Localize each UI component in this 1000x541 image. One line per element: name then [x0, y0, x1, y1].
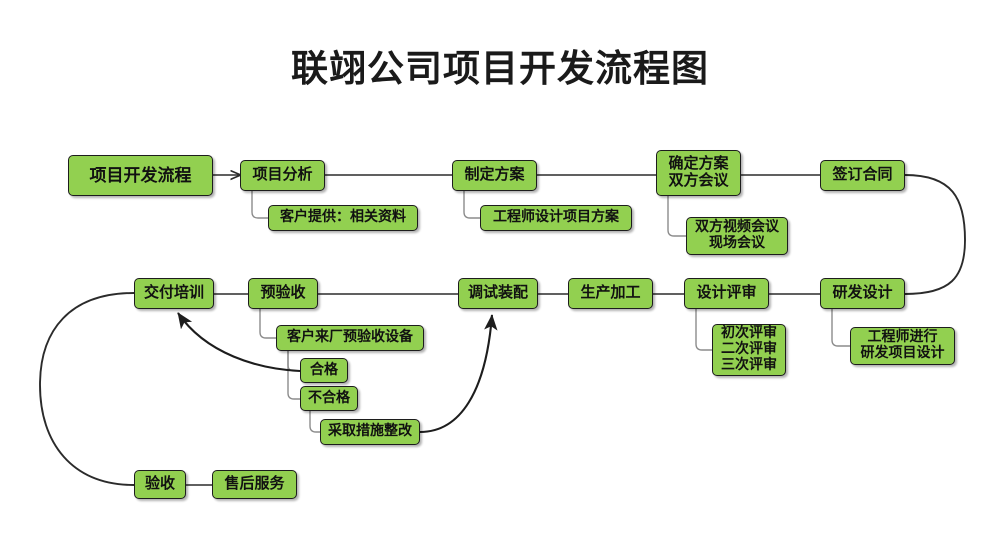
edge-n19-n14 [420, 315, 492, 432]
edge-n2-n3 [252, 191, 268, 218]
node-take-corrective-measures[interactable]: 采取措施整改 [320, 419, 420, 445]
node-customer-onsite-pre-acceptance[interactable]: 客户来厂预验收设备 [276, 325, 424, 351]
node-customer-provides-materials[interactable]: 客户提供：相关资料 [268, 205, 418, 231]
edge-n16-n18 [288, 351, 300, 399]
node-engineer-rnd-project-design[interactable]: 工程师进行 研发项目设计 [850, 327, 955, 365]
node-sign-contract[interactable]: 签订合同 [820, 160, 905, 191]
node-review-rounds[interactable]: 初次评审 二次评审 三次评审 [712, 324, 786, 376]
node-rnd-design[interactable]: 研发设计 [820, 278, 905, 309]
edge-n18-n19 [310, 411, 320, 432]
flowchart-canvas: 联翊公司项目开发流程图 [0, 0, 1000, 541]
node-design-review[interactable]: 设计评审 [684, 278, 769, 309]
page-title: 联翊公司项目开发流程图 [0, 38, 1000, 92]
node-formulate-plan[interactable]: 制定方案 [452, 160, 537, 191]
edge-n9-n10 [832, 309, 850, 346]
node-after-sales-service[interactable]: 售后服务 [212, 470, 297, 499]
node-project-development-process[interactable]: 项目开发流程 [68, 155, 213, 196]
edge-n16-n17 [288, 351, 300, 371]
node-project-analysis[interactable]: 项目分析 [240, 160, 325, 191]
node-confirm-plan-bilateral-meeting[interactable]: 确定方案 双方会议 [656, 150, 741, 196]
node-unqualified[interactable]: 不合格 [300, 386, 358, 411]
node-qualified[interactable]: 合格 [300, 358, 348, 383]
node-production-processing[interactable]: 生产加工 [568, 278, 653, 309]
node-engineer-designs-plan[interactable]: 工程师设计项目方案 [480, 205, 632, 231]
edge-n8-n9 [905, 175, 965, 294]
edge-n11-n12 [696, 309, 712, 350]
edge-n6-n7 [668, 196, 686, 236]
node-pre-acceptance[interactable]: 预验收 [248, 278, 318, 309]
node-acceptance[interactable]: 验收 [134, 470, 186, 499]
edge-n20-n21 [40, 293, 134, 485]
edge-n4-n5 [464, 191, 480, 218]
node-delivery-training[interactable]: 交付培训 [134, 278, 214, 309]
node-debug-assembly[interactable]: 调试装配 [458, 278, 538, 309]
node-video-or-onsite-meeting[interactable]: 双方视频会议 现场会议 [686, 217, 788, 255]
edge-n15-n16 [260, 309, 276, 338]
